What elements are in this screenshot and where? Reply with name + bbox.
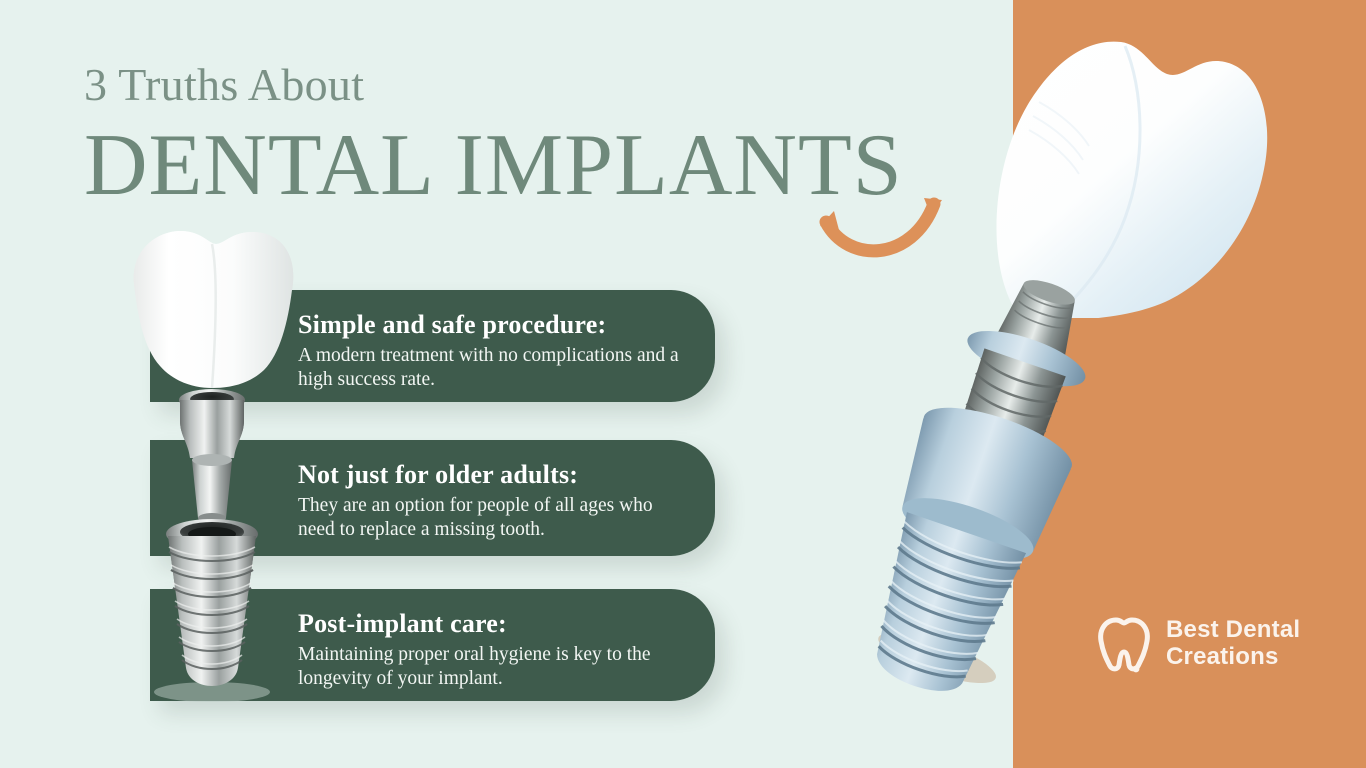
- brand-name-line-1: Best Dental: [1166, 617, 1300, 644]
- fact-card-3-title: Post-implant care:: [298, 609, 681, 639]
- fact-card-2-title: Not just for older adults:: [298, 460, 681, 490]
- infographic-canvas: 3 Truths About DENTAL IMPLANTS: [0, 0, 1366, 768]
- dental-implant-exploded-overlay-icon: [112, 222, 322, 702]
- fact-card-1-body: A modern treatment with no complications…: [298, 344, 681, 393]
- fact-card-3-body: Maintaining proper oral hygiene is key t…: [298, 643, 681, 692]
- brand-logo[interactable]: Best Dental Creations: [1096, 614, 1300, 674]
- brand-name-line-2: Creations: [1166, 644, 1300, 671]
- fact-card-1-title: Simple and safe procedure:: [298, 310, 681, 340]
- fact-card-2-body: They are an option for people of all age…: [298, 494, 681, 543]
- brand-logo-text: Best Dental Creations: [1166, 617, 1300, 671]
- curved-double-arrow-icon: [812, 178, 952, 268]
- dental-implant-screw-icon: [830, 258, 1130, 698]
- tooth-question-mark-icon: [1096, 614, 1152, 674]
